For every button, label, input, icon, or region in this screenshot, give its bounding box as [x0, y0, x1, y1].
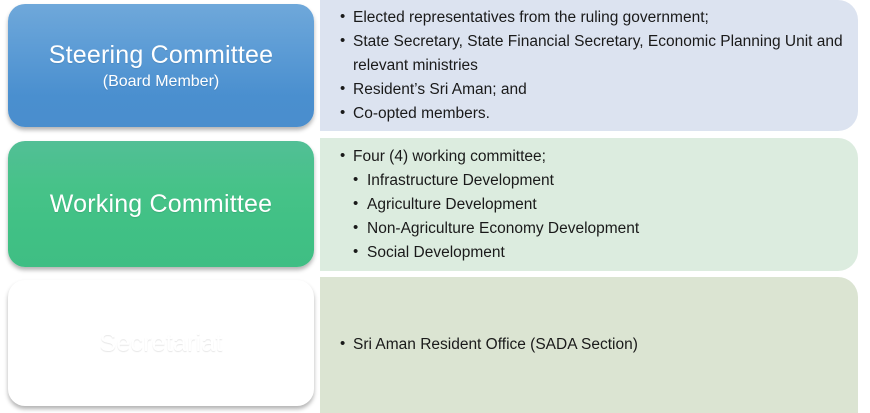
secretariat-list: Sri Aman Resident Office (SADA Section): [340, 333, 844, 357]
list-item: Co-opted members.: [340, 102, 844, 126]
list-item: Agriculture Development: [340, 193, 844, 217]
list-item-text: Infrastructure Development: [367, 172, 554, 189]
steering-committee-subtitle: (Board Member): [103, 71, 219, 92]
secretariat-title: Secretariat: [99, 328, 222, 358]
governance-structure-diagram: Steering Committee (Board Member) Electe…: [0, 0, 870, 413]
list-item: Elected representatives from the ruling …: [340, 6, 844, 30]
working-committee-box: Working Committee: [8, 141, 314, 267]
list-item-text: Sri Aman Resident Office (SADA Section): [353, 333, 844, 357]
working-committee-sublist: Infrastructure Development Agriculture D…: [340, 169, 844, 265]
list-item: Non-Agriculture Economy Development: [340, 217, 844, 241]
list-item-text: Social Development: [367, 244, 505, 261]
steering-committee-panel: Elected representatives from the ruling …: [320, 0, 858, 131]
list-item: Social Development: [340, 241, 844, 265]
working-committee-list: Four (4) working committee;: [340, 145, 844, 169]
list-item: Resident’s Sri Aman; and: [340, 78, 844, 102]
working-committee-title: Working Committee: [50, 189, 272, 219]
working-committee-panel: Four (4) working committee; Infrastructu…: [320, 138, 858, 271]
list-item-text: Non-Agriculture Economy Development: [367, 220, 639, 237]
list-item-text: Agriculture Development: [367, 196, 537, 213]
list-item-text: Co-opted members.: [353, 102, 844, 126]
list-item: Sri Aman Resident Office (SADA Section): [340, 333, 844, 357]
secretariat-panel: Sri Aman Resident Office (SADA Section): [320, 277, 858, 413]
steering-committee-list: Elected representatives from the ruling …: [340, 6, 844, 126]
list-item-text: Resident’s Sri Aman; and: [353, 78, 844, 102]
steering-committee-title: Steering Committee: [49, 40, 274, 70]
list-item: Infrastructure Development: [340, 169, 844, 193]
list-item-text: State Secretary, State Financial Secreta…: [353, 30, 844, 78]
secretariat-box: Secretariat: [8, 280, 314, 406]
list-item: State Secretary, State Financial Secreta…: [340, 30, 844, 78]
steering-committee-box: Steering Committee (Board Member): [8, 4, 314, 127]
list-item: Four (4) working committee;: [340, 145, 844, 169]
list-item-text: Four (4) working committee;: [353, 145, 844, 169]
list-item-text: Elected representatives from the ruling …: [353, 6, 844, 30]
